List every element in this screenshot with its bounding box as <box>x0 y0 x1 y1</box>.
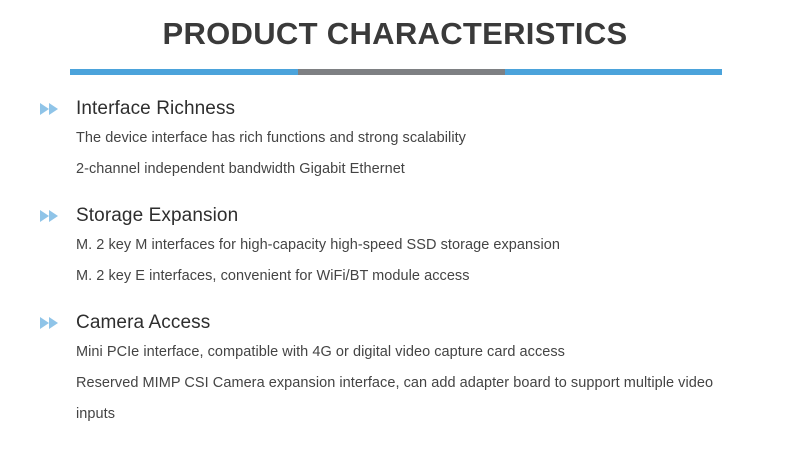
section-heading: Storage Expansion <box>76 202 790 230</box>
section-detail-lines: M. 2 key M interfaces for high-capacity … <box>76 230 790 292</box>
section-camera-access: Camera Access Mini PCIe interface, compa… <box>0 309 790 430</box>
title-divider-bar <box>70 69 722 75</box>
detail-line: M. 2 key M interfaces for high-capacity … <box>76 230 751 261</box>
content-list: Interface Richness The device interface … <box>0 95 790 430</box>
section-detail-lines: Mini PCIe interface, compatible with 4G … <box>76 337 790 430</box>
double-chevron-right-icon <box>40 103 60 115</box>
detail-line: The device interface has rich functions … <box>76 123 751 154</box>
detail-line: Reserved MIMP CSI Camera expansion inter… <box>76 368 751 430</box>
page-title: PRODUCT CHARACTERISTICS <box>0 14 790 54</box>
slide-canvas: PRODUCT CHARACTERISTICS Interface Richne… <box>0 0 790 471</box>
divider-segment-middle <box>298 69 505 75</box>
detail-line: 2-channel independent bandwidth Gigabit … <box>76 154 751 185</box>
section-interface-richness: Interface Richness The device interface … <box>0 95 790 185</box>
section-storage-expansion: Storage Expansion M. 2 key M interfaces … <box>0 202 790 292</box>
section-heading: Camera Access <box>76 309 790 337</box>
detail-line: Mini PCIe interface, compatible with 4G … <box>76 337 751 368</box>
divider-segment-right <box>505 69 722 75</box>
section-detail-lines: The device interface has rich functions … <box>76 123 790 185</box>
section-heading: Interface Richness <box>76 95 790 123</box>
double-chevron-right-icon <box>40 317 60 329</box>
detail-line: M. 2 key E interfaces, convenient for Wi… <box>76 261 751 292</box>
divider-segment-left <box>70 69 298 75</box>
double-chevron-right-icon <box>40 210 60 222</box>
